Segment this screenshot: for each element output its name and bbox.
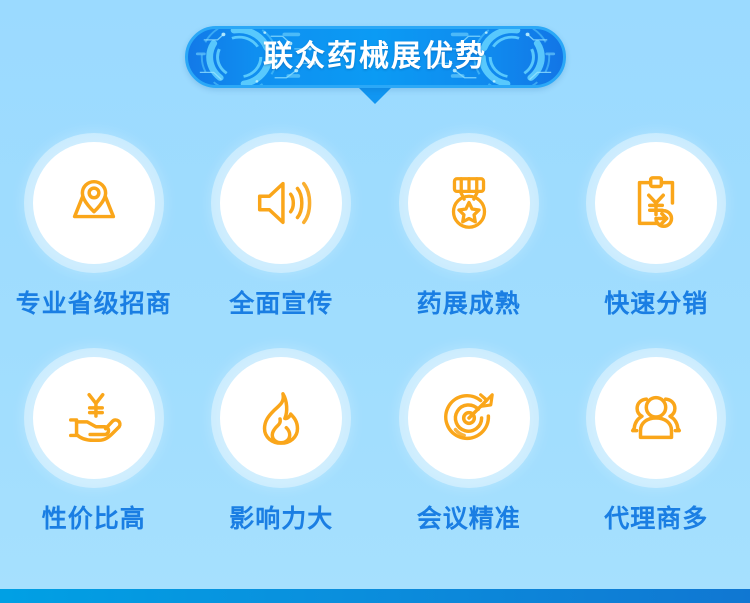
icon-circle (220, 357, 342, 479)
flame-icon (250, 387, 312, 449)
advantage-label: 影响力大 (229, 507, 333, 532)
page-title: 联众药械展优势 (263, 42, 487, 72)
advantage-item[interactable]: 性价比高 (0, 357, 188, 572)
medal-star-icon (438, 172, 500, 234)
map-pin-icon (63, 172, 125, 234)
chevron-down-icon (358, 87, 392, 104)
advantage-label: 快速分销 (604, 292, 708, 317)
advantage-item[interactable]: 药展成熟 (375, 142, 563, 357)
advantage-item[interactable]: 快速分销 (563, 142, 750, 357)
advantage-label: 会议精准 (417, 507, 521, 532)
title-banner: 联众药械展优势 (185, 26, 566, 88)
advantage-label: 性价比高 (42, 507, 146, 532)
icon-circle (33, 357, 155, 479)
advantage-item[interactable]: 全面宣传 (188, 142, 376, 357)
icon-circle (220, 142, 342, 264)
advantage-item[interactable]: 影响力大 (188, 357, 376, 572)
clipboard-yuan-icon (625, 172, 687, 234)
advantage-label: 代理商多 (604, 507, 708, 532)
icon-circle (33, 142, 155, 264)
hand-yuan-icon (63, 387, 125, 449)
banner-header: 联众药械展优势 (0, 26, 750, 104)
icon-circle (408, 357, 530, 479)
bottom-accent-bar (0, 589, 750, 603)
advantage-item[interactable]: 会议精准 (375, 357, 563, 572)
icon-circle (595, 357, 717, 479)
advantages-grid: 专业省级招商 全面宣传 (0, 142, 750, 572)
icon-circle (595, 142, 717, 264)
advantage-label: 专业省级招商 (16, 292, 172, 317)
advantage-item[interactable]: 专业省级招商 (0, 142, 188, 357)
speaker-icon (250, 172, 312, 234)
target-arrow-icon (438, 387, 500, 449)
advantage-label: 药展成熟 (417, 292, 521, 317)
advantage-label: 全面宣传 (229, 292, 333, 317)
advantage-item[interactable]: 代理商多 (563, 357, 750, 572)
promo-page: 联众药械展优势 专业省级招商 (0, 0, 750, 603)
people-group-icon (625, 387, 687, 449)
icon-circle (408, 142, 530, 264)
